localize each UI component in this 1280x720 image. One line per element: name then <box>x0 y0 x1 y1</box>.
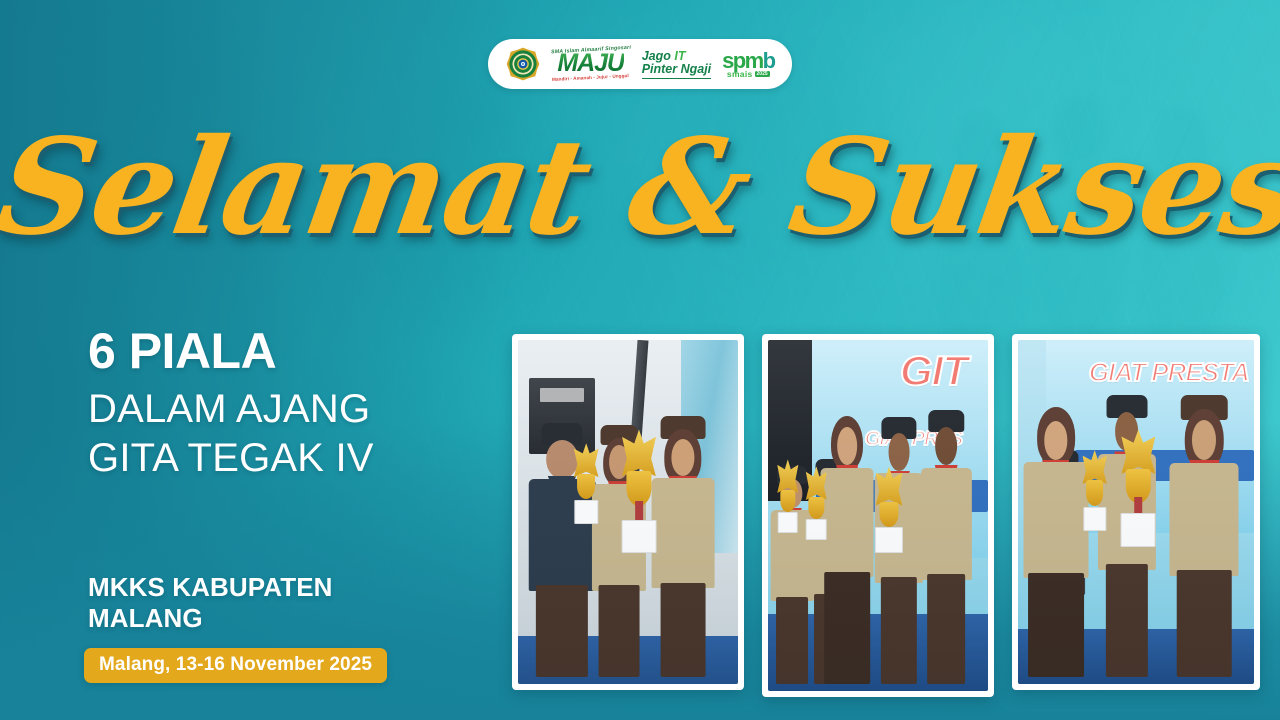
photo-2-scene: GIT GIAT PRES uka Manif Kase <box>768 340 988 691</box>
congratulations-poster: SMA Islam Almaarif Singosari MAJU Mandir… <box>0 0 1280 720</box>
trophy-row-2 <box>803 466 829 550</box>
trophy-count-line: 6 PIALA <box>88 326 374 377</box>
trophy-handover <box>871 466 906 564</box>
figure-recipient-right <box>1164 395 1244 677</box>
trophy-main-3 <box>1115 429 1162 560</box>
organizer-line-1: MKKS KABUPATEN <box>88 572 333 603</box>
speaker-label <box>540 388 584 402</box>
photo-1-scene <box>518 340 738 684</box>
event-line-1: DALAM AJANG <box>88 385 374 434</box>
spmb-subtext: smais 2025 <box>727 70 770 79</box>
spmb-logo: spmb smais 2025 <box>722 50 774 79</box>
organizer-block: MKKS KABUPATEN MALANG <box>88 572 333 633</box>
photo-3-scene: GIAT PRESTA a Ma i Te <box>1018 340 1254 684</box>
trophy-main <box>615 429 663 567</box>
logo-bar: SMA Islam Almaarif Singosari MAJU Mandir… <box>488 39 792 89</box>
photo-award-lineup-2: GIT GIAT PRES uka Manif Kase <box>762 334 994 697</box>
jago-it-tagline: Jago IT Pinter Ngaji <box>642 50 711 79</box>
trophy-secondary-3 <box>1079 450 1110 539</box>
date-location-badge: Malang, 13-16 November 2025 <box>84 648 387 683</box>
event-line-2: GITA TEGAK IV <box>88 434 374 483</box>
spmb-year-tag: 2025 <box>755 71 770 77</box>
photo-award-handover-3: GIAT PRESTA a Ma i Te <box>1012 334 1260 690</box>
trophy-secondary <box>571 443 602 532</box>
backdrop-word-git: GIT <box>900 347 967 395</box>
maju-tagline: Mandiri - Amanah - Jujur - Unggul <box>552 74 629 83</box>
achievement-copy: 6 PIALA DALAM AJANG GITA TEGAK IV <box>88 326 374 483</box>
jago-it-line2: Pinter Ngaji <box>642 63 711 79</box>
organizer-line-2: MALANG <box>88 603 333 634</box>
maju-wordmark: MAJU <box>557 52 623 75</box>
figure-presenter-left <box>1018 402 1094 677</box>
maju-logo: SMA Islam Almaarif Singosari MAJU Mandir… <box>551 47 631 81</box>
trophy-row-1 <box>775 459 801 543</box>
figure-recipient-2 <box>918 410 975 684</box>
photo-award-handover-1 <box>512 334 744 690</box>
headline-script: Selamat & Sukses <box>0 122 1280 254</box>
school-crest-icon <box>506 47 540 81</box>
jago-it-line1: Jago IT <box>642 50 711 64</box>
backdrop-word-giat-presta: GIAT PRESTA <box>1089 357 1249 388</box>
